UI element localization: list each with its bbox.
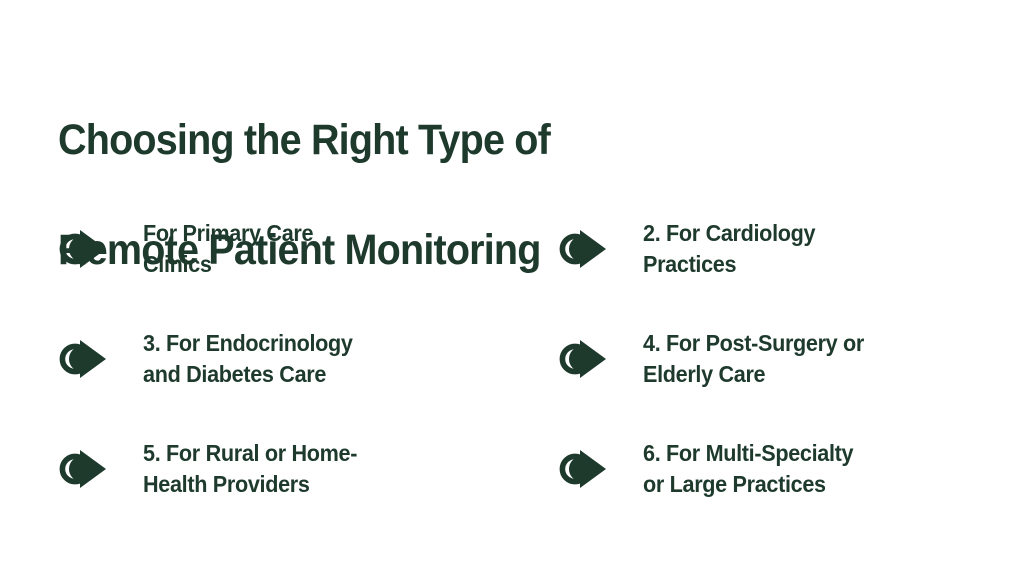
list-item-label: 4. For Post-Surgery orElderly Care — [643, 326, 864, 390]
list-item-line-1: 6. For Multi-Specialty — [643, 440, 853, 466]
list-item-rural-home-health[interactable]: 5. For Rural or Home-Health Providers — [58, 436, 558, 546]
list-item-label: 3. For Endocrinologyand Diabetes Care — [143, 326, 353, 390]
list-item-label: 2. For CardiologyPractices — [643, 216, 815, 280]
slide-canvas: Choosing the Right Type of Remote Patien… — [0, 0, 1024, 576]
list-item-label: 5. For Rural or Home-Health Providers — [143, 436, 357, 500]
list-item-line-2: Elderly Care — [643, 361, 765, 387]
list-item-cardiology[interactable]: 2. For CardiologyPractices — [558, 216, 988, 326]
arrow-ring-bullet-icon — [558, 336, 610, 382]
list-item-line-2: Practices — [643, 251, 736, 277]
list-item-primary-care[interactable]: For Primary CareClinics — [58, 216, 558, 326]
arrow-ring-bullet-icon — [58, 226, 110, 272]
list-item-line-1: 5. For Rural or Home- — [143, 440, 357, 466]
arrow-ring-bullet-icon — [558, 226, 610, 272]
list-item-line-1: 4. For Post-Surgery or — [643, 330, 864, 356]
arrow-ring-bullet-icon — [58, 336, 110, 382]
list-item-label: 6. For Multi-Specialtyor Large Practices — [643, 436, 853, 500]
page-title-line-1: Choosing the Right Type of — [58, 113, 720, 168]
list-item-label: For Primary CareClinics — [143, 216, 313, 280]
list-item-line-1: 2. For Cardiology — [643, 220, 815, 246]
list-item-line-2: or Large Practices — [643, 471, 826, 497]
list-item-line-2: Clinics — [143, 251, 212, 277]
list-item-endocrinology[interactable]: 3. For Endocrinologyand Diabetes Care — [58, 326, 558, 436]
item-list: For Primary CareClinics 2. For Cardiolog… — [58, 216, 988, 546]
list-item-post-surgery[interactable]: 4. For Post-Surgery orElderly Care — [558, 326, 988, 436]
list-item-multi-specialty[interactable]: 6. For Multi-Specialtyor Large Practices — [558, 436, 988, 546]
list-item-line-1: For Primary Care — [143, 220, 313, 246]
arrow-ring-bullet-icon — [558, 446, 610, 492]
list-item-line-1: 3. For Endocrinology — [143, 330, 353, 356]
arrow-ring-bullet-icon — [58, 446, 110, 492]
list-item-line-2: and Diabetes Care — [143, 361, 326, 387]
list-item-line-2: Health Providers — [143, 471, 310, 497]
